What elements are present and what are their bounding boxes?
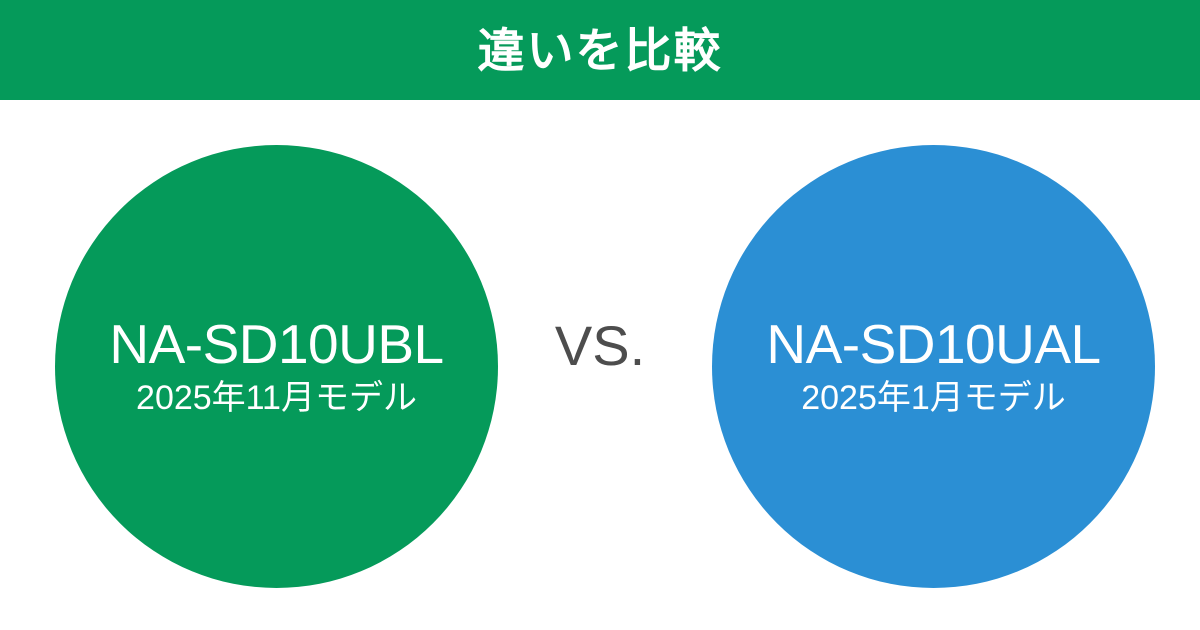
vs-label: VS. (500, 318, 700, 374)
page-title: 違いを比較 (478, 27, 723, 74)
product-release-label-right: 2025年1月モデル (801, 380, 1066, 417)
product-circle-left: NA-SD10UBL 2025年11月モデル (55, 145, 498, 588)
comparison-area: NA-SD10UBL 2025年11月モデル VS. NA-SD10UAL 20… (0, 100, 1200, 630)
comparison-banner: 違いを比較 NA-SD10UBL 2025年11月モデル VS. NA-SD10… (0, 0, 1200, 630)
product-model-name-right: NA-SD10UAL (766, 316, 1100, 374)
product-circle-right: NA-SD10UAL 2025年1月モデル (712, 145, 1155, 588)
product-release-label-left: 2025年11月モデル (136, 380, 417, 417)
header-bar: 違いを比較 (0, 0, 1200, 100)
product-model-name-left: NA-SD10UBL (109, 316, 443, 374)
